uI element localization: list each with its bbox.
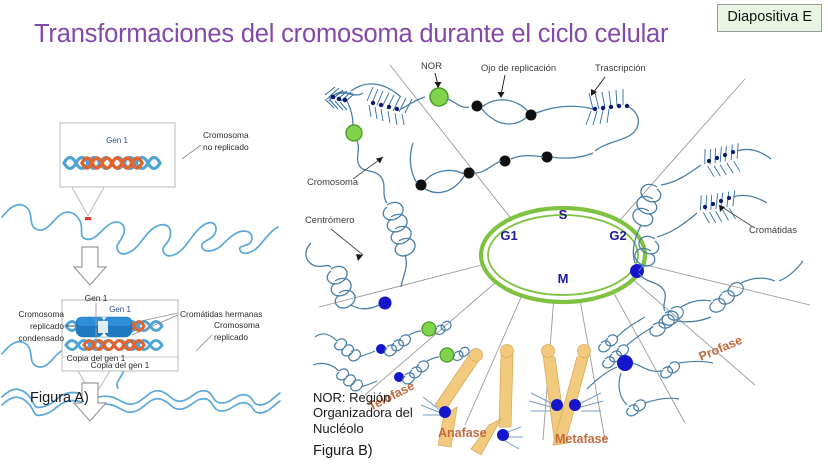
nor-dot-telo-1 (422, 322, 436, 336)
label-transcription: Trascripción (591, 62, 646, 96)
svg-text:Cromátidas hermanas: Cromátidas hermanas (180, 309, 262, 319)
telofase-chromosomes (313, 321, 469, 391)
figure-b-caption: Figura B) (313, 443, 373, 459)
replication-dot-6 (416, 180, 427, 191)
nor-dot-s (430, 88, 448, 106)
replication-dot-1 (472, 101, 483, 112)
centromere-dot-metafase-2 (569, 399, 581, 411)
gene-callout-box-top: Gen 1 (60, 123, 175, 216)
gene1-label-top: Gen 1 (106, 136, 128, 145)
nor-dot-g1 (346, 125, 362, 141)
gene1-label-bottom: Gen 1 (85, 293, 108, 303)
label-chromosome-unreplicated: Cromosoma no replicado (182, 130, 249, 159)
replication-dot-2 (526, 110, 537, 121)
cycle-label-g2: G2 (609, 228, 626, 243)
label-nor: NOR (421, 60, 442, 88)
svg-text:no replicado: no replicado (203, 142, 249, 152)
label-centromero: Centrómero (305, 214, 363, 261)
cycle-label-g1: G1 (500, 228, 517, 243)
centromere-dot-anafase-2 (497, 429, 509, 441)
phase-label-anafase: Anafase (438, 426, 487, 440)
slide-badge: Diapositiva E (717, 4, 822, 32)
label-condensed-chromosome: Cromosoma replicado condensado (18, 309, 76, 343)
replication-dot-4 (500, 156, 511, 167)
figure-a: Gen 1 Cromosoma no replicado (0, 95, 300, 380)
g1-chromosome (325, 87, 415, 287)
chromatin-strand-unreplicated (2, 205, 278, 256)
slide-canvas: Diapositiva E Transformaciones del cromo… (0, 0, 828, 466)
gene-marker-top (85, 217, 91, 220)
metafase-chromosomes (529, 345, 603, 446)
nor-dot-telo-2 (440, 348, 454, 362)
centromere-dot-profase (617, 355, 633, 371)
figure-a-caption: Figura A) (30, 390, 89, 406)
svg-text:condensado: condensado (18, 333, 64, 343)
phase-label-metafase: Metafase (555, 432, 609, 446)
svg-text:Cromosoma: Cromosoma (203, 130, 249, 140)
replication-dot-5 (464, 168, 475, 179)
down-arrow-1 (74, 247, 106, 285)
replication-dot-3 (542, 152, 553, 163)
svg-text:Cromosoma: Cromosoma (307, 176, 359, 187)
svg-text:Cromosoma: Cromosoma (18, 309, 64, 319)
figure-b: G1 S G2 M (305, 55, 828, 445)
svg-text:replicado: replicado (30, 321, 64, 331)
centromere-dot-left (379, 297, 392, 310)
label-sister-chromatids: Cromátidas hermanas (132, 309, 262, 335)
s-phase-replication (351, 84, 638, 193)
cycle-label-m: M (558, 271, 569, 286)
label-cromatidas: Cromátidas (719, 205, 797, 235)
gene1-copy-label-bottom: Copia del gen 1 (67, 353, 126, 363)
cycle-label-s: S (559, 207, 568, 222)
svg-text:Trascripción: Trascripción (595, 62, 646, 73)
svg-text:NOR: NOR (421, 60, 442, 71)
cell-cycle-ellipse (481, 208, 645, 302)
svg-text:Cromátidas: Cromátidas (749, 224, 797, 235)
svg-text:Ojo de replicación: Ojo de replicación (481, 62, 556, 73)
svg-text:Centrómero: Centrómero (305, 214, 355, 225)
phase-label-profase: Profase (697, 333, 745, 364)
page-title: Transformaciones del cromosoma durante e… (34, 20, 668, 49)
centromere-dot-anafase-1 (439, 406, 451, 418)
condensed-chromosome (76, 303, 132, 351)
centromere-dot-metafase-1 (551, 399, 563, 411)
label-replication-eye: Ojo de replicación (481, 62, 556, 98)
nor-legend-note: NOR: Región Organizadora del Nucléolo (313, 390, 413, 436)
